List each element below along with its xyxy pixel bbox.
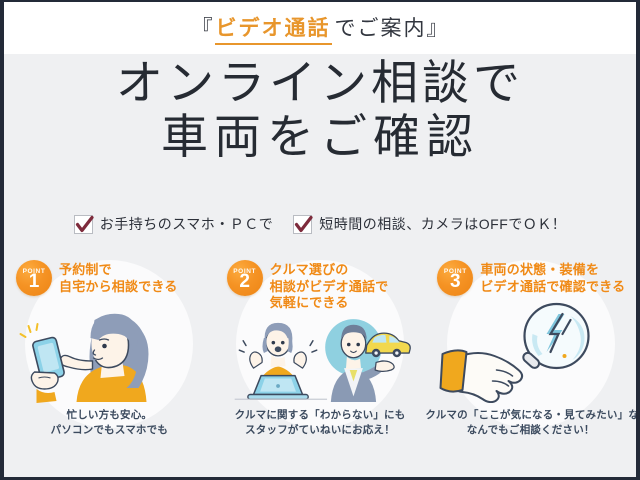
check-label-1: お手持ちのスマホ・ＰＣで bbox=[100, 214, 274, 234]
point-badge-number: 3 bbox=[450, 273, 461, 291]
point-badge-word: POINT bbox=[23, 268, 46, 275]
point-badge-3: POINT 3 bbox=[437, 260, 473, 296]
caption-line: スタッフがていねいにお応え！ bbox=[215, 423, 426, 438]
point-title-line: 気軽にできる bbox=[270, 295, 389, 312]
woman-with-smartphone-illustration bbox=[17, 298, 202, 403]
point-title-line: クルマ選びの bbox=[270, 262, 389, 279]
point-badge-word: POINT bbox=[444, 268, 467, 275]
point-badge-number: 2 bbox=[239, 273, 250, 291]
point-header-3: POINT 3 車両の状態・装備を ビデオ通話で確認できる bbox=[437, 260, 625, 296]
feature-check-row: お手持ちのスマホ・ＰＣで 短時間の相談、カメラはOFFでＯＫ！ bbox=[4, 214, 636, 234]
caption-line: 忙しい方も安心。 bbox=[4, 408, 215, 423]
point-title-2: クルマ選びの 相談がビデオ通話で 気軽にできる bbox=[270, 260, 389, 312]
point-caption-2: クルマに関する「わからない」にも スタッフがていねいにお応え！ bbox=[215, 408, 426, 438]
point-title-line: 車両の状態・装備を bbox=[480, 262, 625, 279]
point-column-1: POINT 1 予約制で 自宅から相談できる bbox=[4, 252, 215, 452]
point-caption-1: 忙しい方も安心。 パソコンでもスマホでも bbox=[4, 408, 215, 438]
check-item-1: お手持ちのスマホ・ＰＣで bbox=[74, 214, 274, 234]
checkbox-checked-icon bbox=[293, 215, 312, 234]
point-header-2: POINT 2 クルマ選びの 相談がビデオ通話で 気軽にできる bbox=[227, 260, 389, 312]
point-badge-number: 1 bbox=[29, 273, 40, 291]
points-section: POINT 1 予約制で 自宅から相談できる bbox=[4, 252, 636, 452]
caption-line: なんでもご相談ください！ bbox=[425, 423, 636, 438]
header-accent-text: ビデオ通話 bbox=[215, 12, 332, 45]
header-band: 『 ビデオ通話 でご案内 』 bbox=[4, 2, 636, 54]
hand-with-magnifying-glass-illustration bbox=[438, 298, 623, 403]
bracket-open: 『 bbox=[192, 12, 214, 42]
caption-line: クルマの「ここが気になる・見てみたい」など bbox=[425, 408, 636, 423]
header-tail-text: でご案内 bbox=[335, 12, 427, 42]
point-badge-2: POINT 2 bbox=[227, 260, 263, 296]
point-header-1: POINT 1 予約制で 自宅から相談できる bbox=[16, 260, 178, 296]
caption-line: クルマに関する「わからない」にも bbox=[215, 408, 426, 423]
caption-line: パソコンでもスマホでも bbox=[4, 423, 215, 438]
title-line-2: 車両をご確認 bbox=[4, 110, 636, 164]
check-item-2: 短時間の相談、カメラはOFFでＯＫ！ bbox=[293, 214, 566, 234]
point-title-line: 相談がビデオ通話で bbox=[270, 279, 389, 296]
point-badge-1: POINT 1 bbox=[16, 260, 52, 296]
point-title-line: 予約制で bbox=[59, 262, 178, 279]
point-title-line: ビデオ通話で確認できる bbox=[480, 279, 625, 296]
check-label-2: 短時間の相談、カメラはOFFでＯＫ！ bbox=[319, 214, 566, 234]
promo-banner: 『 ビデオ通話 でご案内 』 オンライン相談で 車両をご確認 お手持ちのスマホ・… bbox=[0, 0, 640, 480]
point-badge-word: POINT bbox=[233, 268, 256, 275]
point-caption-3: クルマの「ここが気になる・見てみたい」など なんでもご相談ください！ bbox=[425, 408, 636, 438]
point-column-3: POINT 3 車両の状態・装備を ビデオ通話で確認できる bbox=[425, 252, 636, 452]
checkbox-checked-icon bbox=[74, 215, 93, 234]
point-title-1: 予約制で 自宅から相談できる bbox=[59, 260, 178, 295]
header-tagline: 『 ビデオ通話 でご案内 』 bbox=[192, 12, 449, 45]
point-column-2: POINT 2 クルマ選びの 相談がビデオ通話で 気軽にできる bbox=[215, 252, 426, 452]
point-title-line: 自宅から相談できる bbox=[59, 279, 178, 296]
woman-at-laptop-and-staff-with-car-illustration bbox=[228, 304, 413, 403]
page-title: オンライン相談で 車両をご確認 bbox=[4, 56, 636, 164]
title-line-1: オンライン相談で bbox=[4, 56, 636, 110]
point-title-3: 車両の状態・装備を ビデオ通話で確認できる bbox=[480, 260, 625, 295]
bracket-close: 』 bbox=[427, 12, 449, 42]
